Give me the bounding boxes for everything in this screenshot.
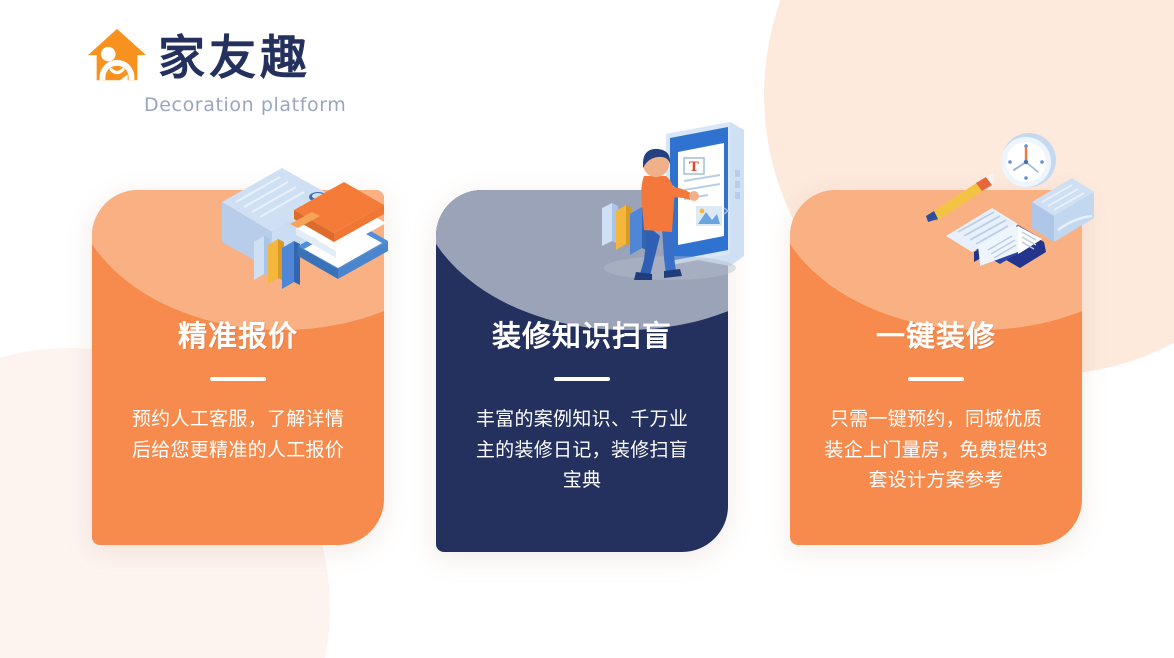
- card-title: 精准报价: [178, 320, 298, 355]
- feature-card-precise-quote[interactable]: 精准报价 预约人工客服，了解详情后给您更精准的人工报价: [92, 190, 384, 545]
- brand-tagline: Decoration platform: [144, 94, 346, 116]
- card-description: 只需一键预约，同城优质装企上门量房，免费提供3套设计方案参考: [822, 405, 1050, 497]
- card-divider: [210, 377, 266, 381]
- card-divider: [554, 377, 610, 381]
- card-content: 装修知识扫盲 丰富的案例知识、千万业主的装修日记，装修扫盲宝典: [436, 190, 728, 552]
- brand-logo-row: 家友趣: [86, 26, 346, 88]
- card-content: 精准报价 预约人工客服，了解详情后给您更精准的人工报价: [92, 190, 384, 545]
- card-title: 一键装修: [876, 320, 996, 355]
- house-with-person-icon: [86, 26, 148, 88]
- card-description: 预约人工客服，了解详情后给您更精准的人工报价: [124, 405, 352, 467]
- brand-name: 家友趣: [158, 34, 311, 81]
- feature-card-one-click-decoration[interactable]: 一键装修 只需一键预约，同城优质装企上门量房，免费提供3套设计方案参考: [790, 190, 1082, 545]
- feature-card-decoration-knowledge[interactable]: 装修知识扫盲 丰富的案例知识、千万业主的装修日记，装修扫盲宝典: [436, 190, 728, 552]
- brand-logo[interactable]: 家友趣 Decoration platform: [86, 26, 346, 116]
- card-divider: [908, 377, 964, 381]
- card-content: 一键装修 只需一键预约，同城优质装企上门量房，免费提供3套设计方案参考: [790, 190, 1082, 545]
- card-description: 丰富的案例知识、千万业主的装修日记，装修扫盲宝典: [468, 405, 696, 497]
- card-title: 装修知识扫盲: [492, 320, 672, 355]
